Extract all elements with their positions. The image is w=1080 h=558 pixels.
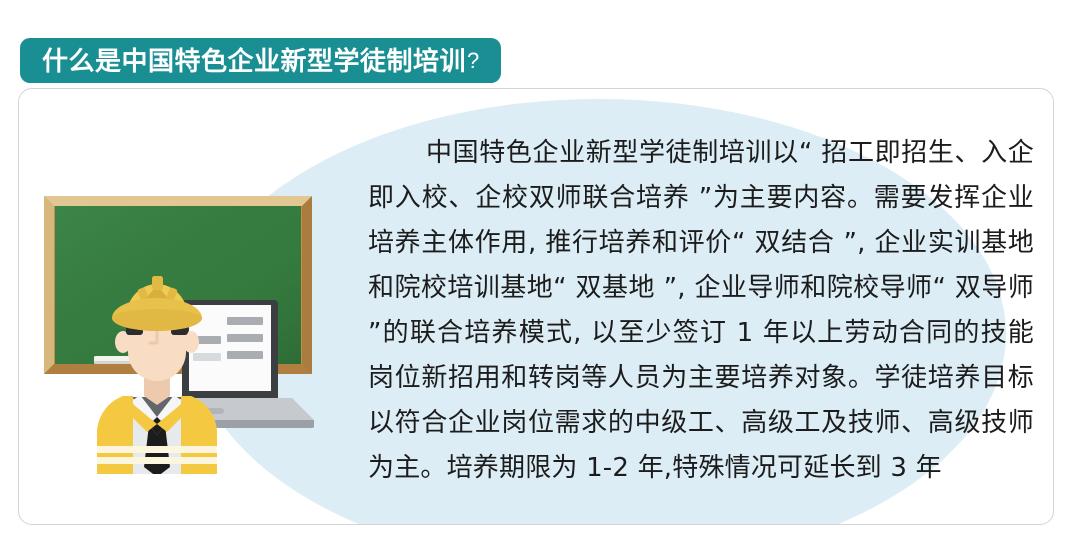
page-title-banner: 什么是中国特色企业新型学徒制培训 ? <box>20 38 501 83</box>
content-card: 中国特色企业新型学徒制培训以“ 招工即招生、入企即入校、企校双师联合培养 ”为主… <box>18 88 1054 525</box>
body-text-block: 中国特色企业新型学徒制培训以“ 招工即招生、入企即入校、企校双师联合培养 ”为主… <box>368 131 1034 491</box>
body-paragraph: 中国特色企业新型学徒制培训以“ 招工即招生、入企即入校、企校双师联合培养 ”为主… <box>368 131 1034 491</box>
page-title-question-mark: ? <box>467 50 479 72</box>
illustration-worker-at-chalkboard <box>34 184 334 474</box>
page-title: 什么是中国特色企业新型学徒制培训 <box>42 48 466 74</box>
